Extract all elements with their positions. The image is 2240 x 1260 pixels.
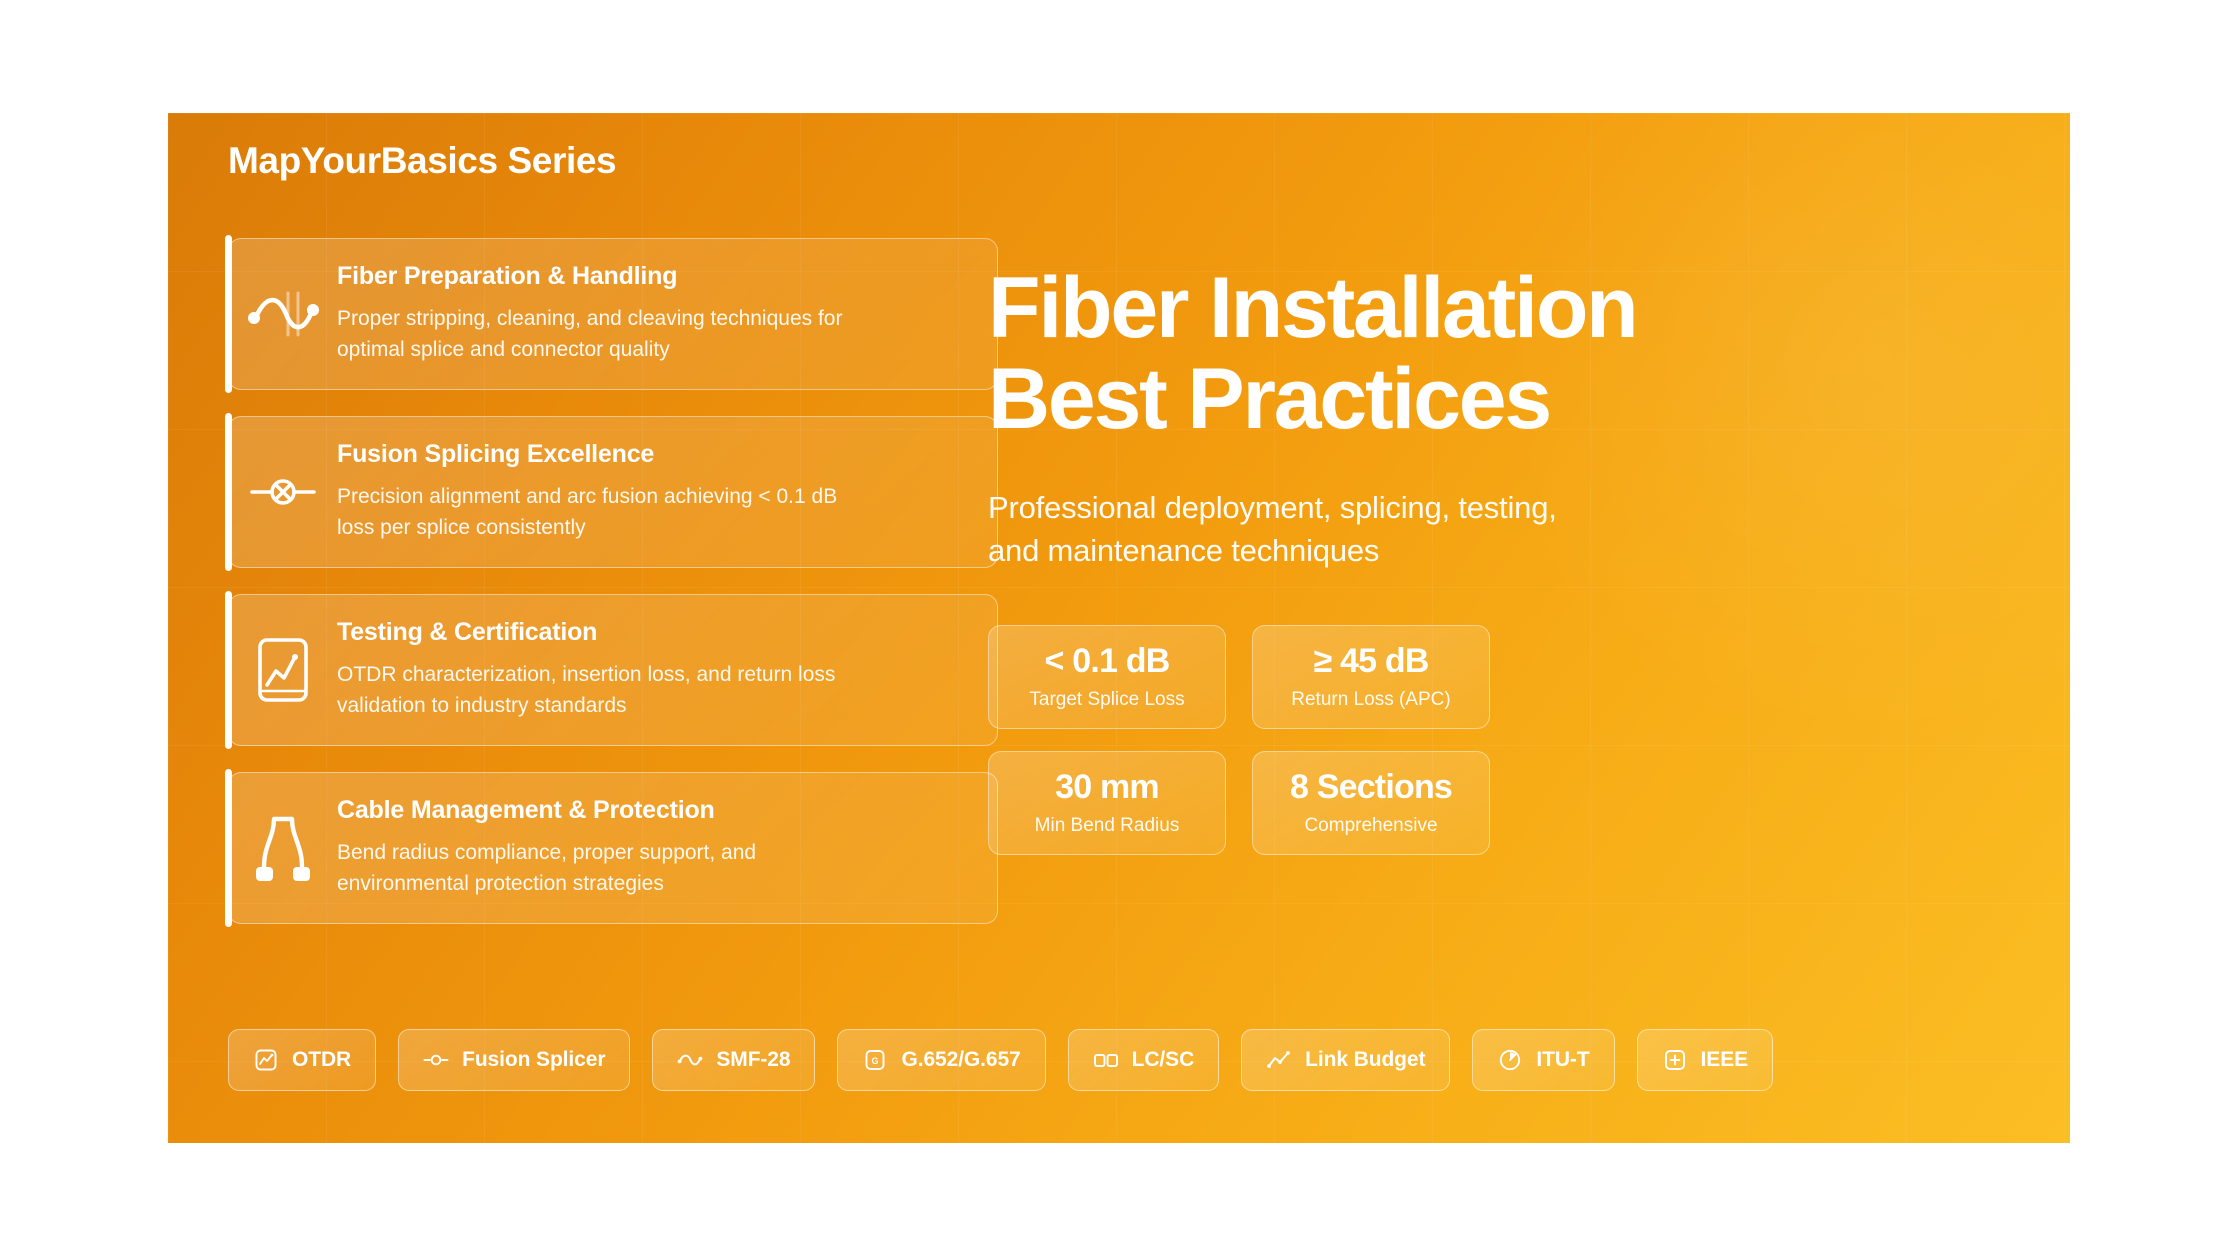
svg-text:G: G bbox=[872, 1056, 879, 1066]
otdr-trace-icon bbox=[253, 1047, 279, 1073]
connector-pair-icon bbox=[1093, 1047, 1119, 1073]
stat-label: Min Bend Radius bbox=[1035, 816, 1180, 835]
tag-label: ITU-T bbox=[1536, 1048, 1589, 1072]
screenshot-root: MapYourBasics Series Fiber Preparation &… bbox=[0, 0, 2240, 1260]
card-description: Precision alignment and arc fusion achie… bbox=[337, 481, 867, 543]
stat-label: Return Loss (APC) bbox=[1291, 690, 1450, 709]
stat-card: < 0.1 dB Target Splice Loss bbox=[988, 625, 1226, 729]
page-title-line1: Fiber Installation bbox=[988, 260, 1636, 356]
stat-card: 30 mm Min Bend Radius bbox=[988, 751, 1226, 855]
feature-card[interactable]: Cable Management & Protection Bend radiu… bbox=[228, 772, 998, 924]
feature-card[interactable]: Testing & Certification OTDR characteriz… bbox=[228, 594, 998, 746]
ieee-plus-icon bbox=[1662, 1047, 1688, 1073]
brand-title: MapYourBasics Series bbox=[228, 140, 616, 182]
stat-label: Target Splice Loss bbox=[1029, 690, 1184, 709]
card-text: Cable Management & Protection Bend radiu… bbox=[337, 797, 971, 900]
tag-label: Link Budget bbox=[1305, 1048, 1425, 1072]
card-accent-bar bbox=[225, 235, 232, 393]
feature-card[interactable]: Fusion Splicing Excellence Precision ali… bbox=[228, 416, 998, 568]
link-budget-trend-icon bbox=[1266, 1047, 1292, 1073]
feature-card[interactable]: Fiber Preparation & Handling Proper stri… bbox=[228, 238, 998, 390]
page-subtitle: Professional deployment, splicing, testi… bbox=[988, 487, 1608, 573]
card-accent-bar bbox=[225, 769, 232, 927]
card-title: Fusion Splicing Excellence bbox=[337, 441, 961, 469]
page-title: Fiber Installation Best Practices bbox=[988, 263, 1998, 445]
stat-label: Comprehensive bbox=[1304, 816, 1437, 835]
fiber-wave-icon bbox=[229, 271, 337, 357]
page-title-line2: Best Practices bbox=[988, 354, 1998, 445]
hero-panel: MapYourBasics Series Fiber Preparation &… bbox=[168, 113, 2070, 1143]
tag-chip-otdr[interactable]: OTDR bbox=[228, 1029, 376, 1091]
feature-card-list: Fiber Preparation & Handling Proper stri… bbox=[228, 238, 998, 950]
stat-value: 30 mm bbox=[1055, 770, 1159, 804]
card-text: Testing & Certification OTDR characteriz… bbox=[337, 619, 971, 722]
tag-chip-fusion-splicer[interactable]: Fusion Splicer bbox=[398, 1029, 630, 1091]
wave-icon bbox=[677, 1047, 703, 1073]
card-title: Fiber Preparation & Handling bbox=[337, 263, 961, 291]
card-accent-bar bbox=[225, 591, 232, 749]
tag-label: G.652/G.657 bbox=[901, 1048, 1020, 1072]
stat-card: ≥ 45 dB Return Loss (APC) bbox=[1252, 625, 1490, 729]
stat-value: < 0.1 dB bbox=[1045, 644, 1170, 678]
tag-label: IEEE bbox=[1701, 1048, 1748, 1072]
card-description: OTDR characterization, insertion loss, a… bbox=[337, 659, 867, 721]
tag-label: OTDR bbox=[292, 1048, 351, 1072]
tag-label: Fusion Splicer bbox=[462, 1048, 605, 1072]
test-report-chart-icon bbox=[229, 627, 337, 713]
card-description: Bend radius compliance, proper support, … bbox=[337, 837, 867, 899]
hero-content: Fiber Installation Best Practices Profes… bbox=[988, 263, 1998, 855]
card-title: Testing & Certification bbox=[337, 619, 961, 647]
card-description: Proper stripping, cleaning, and cleaving… bbox=[337, 303, 867, 365]
tag-chip-g652-g657[interactable]: G G.652/G.657 bbox=[837, 1029, 1045, 1091]
tag-bar: OTDR Fusion Splicer bbox=[228, 1029, 2024, 1091]
tag-chip-ieee[interactable]: IEEE bbox=[1637, 1029, 1773, 1091]
splice-point-icon bbox=[229, 449, 337, 535]
card-accent-bar bbox=[225, 413, 232, 571]
stat-card: 8 Sections Comprehensive bbox=[1252, 751, 1490, 855]
tag-chip-link-budget[interactable]: Link Budget bbox=[1241, 1029, 1450, 1091]
card-text: Fusion Splicing Excellence Precision ali… bbox=[337, 441, 971, 544]
tag-chip-lc-sc[interactable]: LC/SC bbox=[1068, 1029, 1220, 1091]
g-standard-icon: G bbox=[862, 1047, 888, 1073]
fusion-splicer-icon bbox=[423, 1047, 449, 1073]
card-text: Fiber Preparation & Handling Proper stri… bbox=[337, 263, 971, 366]
stat-value: ≥ 45 dB bbox=[1313, 644, 1428, 678]
card-title: Cable Management & Protection bbox=[337, 797, 961, 825]
tag-chip-itu-t[interactable]: ITU-T bbox=[1472, 1029, 1614, 1091]
cable-bend-icon bbox=[229, 805, 337, 891]
stat-value: 8 Sections bbox=[1290, 770, 1452, 804]
tag-chip-smf28[interactable]: SMF-28 bbox=[652, 1029, 815, 1091]
tag-label: LC/SC bbox=[1132, 1048, 1195, 1072]
tag-label: SMF-28 bbox=[716, 1048, 790, 1072]
stat-grid: < 0.1 dB Target Splice Loss ≥ 45 dB Retu… bbox=[988, 625, 1998, 855]
itu-clock-icon bbox=[1497, 1047, 1523, 1073]
